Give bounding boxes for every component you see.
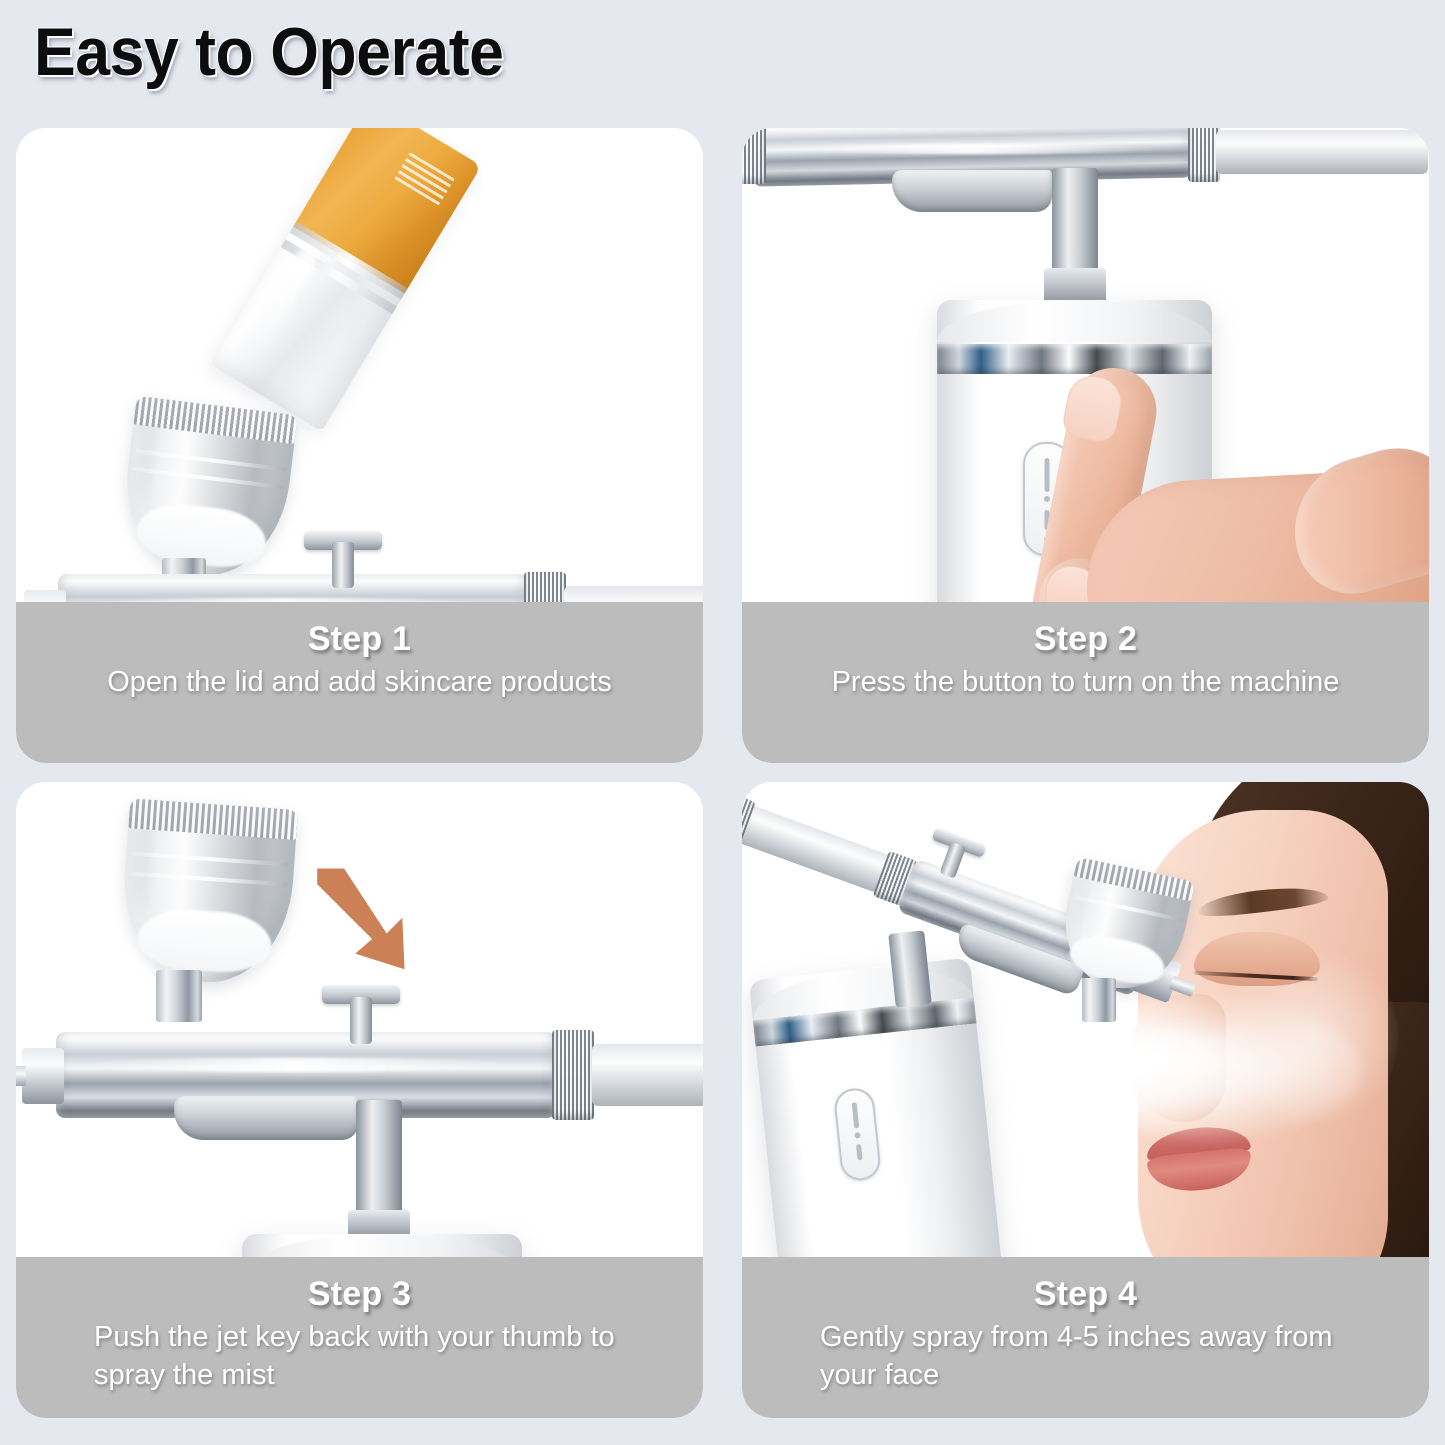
airbrush-rear-tube	[1216, 130, 1428, 174]
paint-cup-band-2	[130, 871, 288, 886]
airbrush-needle-tip	[16, 1066, 26, 1086]
step-2-description: Press the button to turn on the machine	[742, 663, 1429, 701]
tube-gloss	[242, 246, 320, 358]
power-button-dot	[854, 1132, 861, 1139]
airbrush-front-knurl	[742, 128, 766, 184]
step-card-1: Step 1 Open the lid and add skincare pro…	[16, 128, 703, 763]
paint-cup-band-1	[131, 852, 289, 867]
power-button-slot	[852, 1102, 860, 1128]
skincare-tube	[210, 128, 481, 431]
airbrush-body-gloss	[76, 1058, 516, 1072]
paint-cup-band-1	[135, 449, 287, 472]
jet-key-stem	[940, 841, 966, 878]
step-2-label: Step 2	[742, 620, 1429, 659]
paint-cup-stem	[156, 970, 202, 1022]
airbrush-front-knurl	[552, 1030, 594, 1120]
paint-cup-rim	[133, 396, 297, 444]
step-1-description: Open the lid and add skincare products	[16, 663, 703, 701]
airbrush-needle-tip	[1169, 976, 1196, 997]
steps-grid: Step 1 Open the lid and add skincare pro…	[16, 128, 1429, 1418]
base-connector-post	[888, 930, 932, 1007]
air-valve-lever	[174, 1096, 358, 1140]
step-4-description: Gently spray from 4-5 inches away from y…	[742, 1318, 1429, 1395]
step-3-description: Push the jet key back with your thumb to…	[16, 1318, 703, 1395]
airbrush-rear-tube	[592, 1044, 703, 1106]
step-3-caption: Step 3 Push the jet key back with your t…	[16, 1257, 703, 1418]
airbrush-nozzle-cap	[22, 1048, 64, 1104]
air-valve-lever	[892, 170, 1052, 212]
paint-cup-band-2	[133, 467, 285, 490]
jet-key	[304, 526, 382, 588]
paint-cup-contents	[135, 906, 273, 976]
jet-key-stem	[332, 542, 354, 588]
paint-cup-band-1	[1072, 895, 1183, 922]
paint-cup	[118, 798, 298, 987]
jet-key-stem	[350, 997, 372, 1044]
step-4-caption: Step 4 Gently spray from 4-5 inches away…	[742, 1257, 1429, 1418]
step-card-2: Step 2 Press the button to turn on the m…	[742, 128, 1429, 763]
paint-cup	[116, 396, 298, 584]
step-2-caption: Step 2 Press the button to turn on the m…	[742, 602, 1429, 763]
step-1-caption: Step 1 Open the lid and add skincare pro…	[16, 602, 703, 763]
paint-cup-rim	[128, 798, 298, 840]
direction-arrow-icon	[306, 864, 418, 976]
step-card-3: Step 3 Push the jet key back with your t…	[16, 782, 703, 1418]
step-card-4: Step 4 Gently spray from 4-5 inches away…	[742, 782, 1429, 1418]
page-title: Easy to Operate	[34, 13, 503, 91]
step-1-label: Step 1	[16, 620, 703, 659]
compressor-lid	[937, 300, 1212, 342]
step-4-label: Step 4	[742, 1275, 1429, 1314]
infographic-page: Easy to Operate	[0, 0, 1445, 1445]
jet-key	[322, 980, 400, 1044]
step-3-label: Step 3	[16, 1275, 703, 1314]
power-button[interactable]	[833, 1086, 882, 1182]
power-button-slot-lower	[856, 1144, 863, 1160]
airbrush-rear-tube	[742, 805, 892, 894]
airbrush-body-gloss	[782, 144, 1162, 154]
paint-cup-stem	[1082, 978, 1116, 1022]
